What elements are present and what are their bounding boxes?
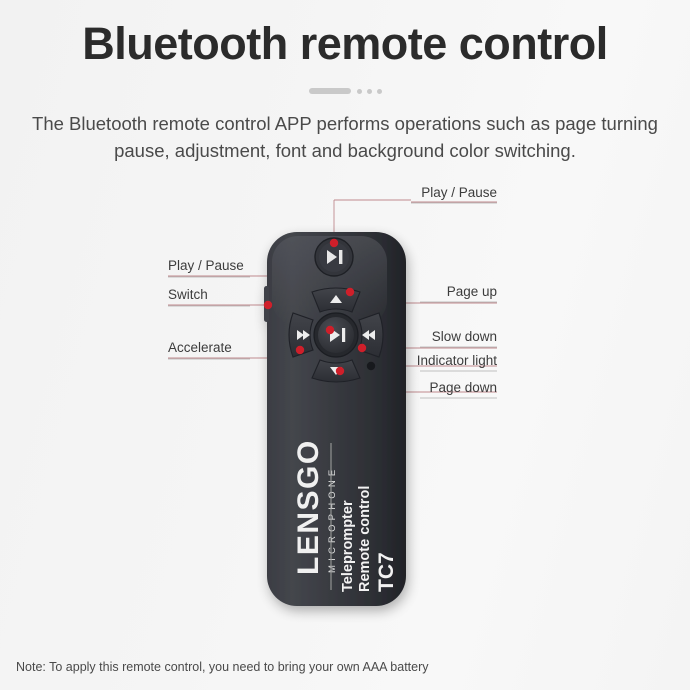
dpad-center-ring [314,313,358,357]
brand-subtitle: MICROPHONE [327,466,338,573]
callout-left-switch: Switch [168,287,208,302]
divider-ornament [0,86,690,96]
subtitle-line-2: pause, adjustment, font and background c… [114,140,576,161]
callout-top-play-pause: Play / Pause [411,185,497,200]
divider-bar [309,88,351,94]
header: Bluetooth remote control The Bluetooth r… [0,0,690,164]
brand-name: LENSGO [292,439,325,575]
dpad-up-arrow [330,295,342,303]
rewind-icon [362,330,375,340]
top-play-pause-button [315,238,353,276]
callout-left-play-pause: Play / Pause [168,258,244,273]
divider-dot [367,89,372,94]
remote-body [264,232,406,606]
subtitle-line-1: The Bluetooth remote control APP perform… [32,113,658,134]
subtitle: The Bluetooth remote control APP perform… [15,96,675,164]
dpad-down-arrow [330,367,342,375]
product-line-2: Remote control [357,486,373,592]
divider-dot [377,89,382,94]
connector-dots [264,239,366,375]
label-underlines [168,203,497,398]
divider-dots [357,89,382,94]
callout-right-indicator-light: Indicator light [390,353,497,368]
dpad [289,288,383,382]
product-line-1: Teleprompter [340,500,356,592]
dpad-left-segment [289,313,313,357]
product-model: TC7 [375,552,398,592]
callout-right-page-up: Page up [400,284,497,299]
callout-right-page-down: Page down [400,380,497,395]
dpad-down-segment [312,360,360,382]
page-title: Bluetooth remote control [0,0,690,72]
footer-note: Note: To apply this remote control, you … [16,660,429,674]
callout-left-accelerate: Accelerate [168,340,232,355]
callout-right-slow-down: Slow down [400,329,497,344]
dpad-up-segment [312,288,360,312]
fast-forward-icon [297,330,310,340]
indicator-light [367,362,375,370]
device-branding: LENSGO MICROPHONE Teleprompter Remote co… [292,439,398,592]
dpad-center-button [318,317,354,353]
leader-lines [168,200,497,392]
dpad-right-segment [359,313,383,357]
divider-dot [357,89,362,94]
